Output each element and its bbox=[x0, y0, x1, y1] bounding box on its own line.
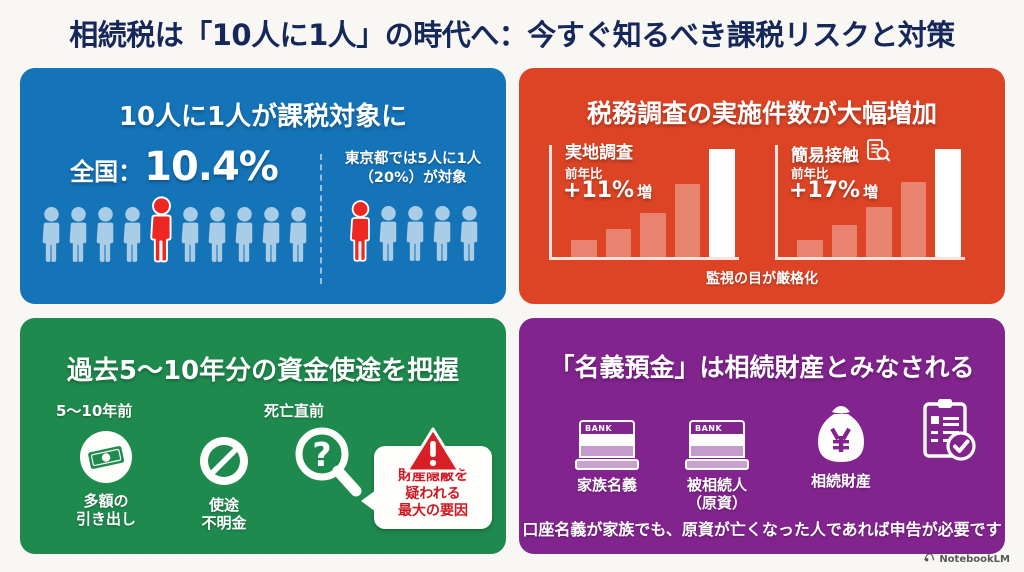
bank-badge-1: BANK bbox=[691, 422, 743, 434]
chart-bar bbox=[675, 184, 701, 257]
chart-bar bbox=[866, 207, 892, 257]
chart-bar bbox=[935, 149, 961, 257]
panel-fund-usage: 過去5〜10年分の資金使途を把握 5〜10年前 死亡直前 多額の 引き出し bbox=[20, 318, 506, 554]
bank-book-icon: BANK bbox=[547, 398, 667, 470]
person-icon-highlighted bbox=[347, 200, 374, 263]
chart-label-text-0: 実地調査 bbox=[565, 138, 633, 163]
panel-taxable-ratio: 10人に1人が課税対象に 全国： 10.4% 東京都では5人に1人 （20%）が… bbox=[20, 68, 506, 304]
chart-bar bbox=[709, 149, 735, 257]
tokyo-note-line2: （20%）が対象 bbox=[328, 169, 498, 188]
person-icon bbox=[232, 206, 257, 264]
notebooklm-logo-icon bbox=[924, 552, 935, 566]
person-icon bbox=[430, 205, 455, 263]
purple-panel-footer: 口座名義が家族でも、原資が亡くなった人であれば申告が必要です bbox=[519, 516, 1005, 540]
panel-nominee-deposit: 「名義預金」は相続財産とみなされる BANK 家族名義 bbox=[519, 318, 1005, 554]
purple-item-declaration bbox=[887, 392, 1005, 464]
chart-label-0: 実地調査 bbox=[565, 138, 633, 163]
bank-book-icon: BANK bbox=[657, 398, 777, 470]
green-caption-0-line2: 引き出し bbox=[46, 510, 166, 528]
purple-caption-0-line1: 家族名義 bbox=[547, 476, 667, 494]
person-icon bbox=[205, 206, 230, 264]
red-panel-heading: 税務調査の実施件数が大幅増加 bbox=[519, 94, 1005, 130]
chart-value-1: +17%増 bbox=[789, 178, 878, 203]
callout-line2: 疑われる bbox=[380, 486, 486, 504]
clipboard-check-icon bbox=[887, 392, 1005, 464]
purple-item-family-account: BANK 家族名義 bbox=[547, 398, 667, 494]
period-label-left: 5〜10年前 bbox=[56, 400, 132, 421]
panel-divider bbox=[320, 154, 322, 284]
purple-item-decedent-account: BANK 被相続人 （原資） bbox=[657, 398, 777, 513]
national-ratio-block: 全国： 10.4% bbox=[30, 144, 318, 190]
callout-line3: 最大の要因 bbox=[380, 503, 486, 521]
purple-caption-2-line1: 相続財産 bbox=[781, 472, 901, 490]
green-caption-1-line2: 不明金 bbox=[164, 514, 284, 532]
person-icon bbox=[286, 206, 311, 264]
green-item-unknown-use: 使途 不明金 bbox=[164, 430, 284, 532]
chart-bar bbox=[797, 240, 823, 257]
people-row-tokyo bbox=[336, 200, 492, 263]
page-title: 相続税は「10人に1人」の時代へ：今すぐ知るべき課税リスクと対策 bbox=[0, 8, 1024, 58]
person-icon bbox=[66, 206, 91, 264]
tokyo-note-block: 東京都では5人に1人 （20%）が対象 bbox=[328, 150, 498, 188]
person-icon bbox=[376, 205, 401, 263]
red-panel-footer: 監視の目が厳格化 bbox=[519, 268, 1005, 288]
person-icon-highlighted bbox=[147, 196, 176, 264]
green-caption-1-line1: 使途 bbox=[164, 496, 284, 514]
chart-bar bbox=[901, 182, 927, 257]
infographic-page: 相続税は「10人に1人」の時代へ：今すぐ知るべき課税リスクと対策 10人に1人が… bbox=[0, 0, 1024, 572]
banknote-icon bbox=[46, 426, 166, 488]
watermark-label: NotebookLM bbox=[939, 554, 1010, 565]
chart-simple-contact: 簡易接触 前年比 +17%増 bbox=[775, 140, 965, 260]
green-caption-0-line1: 多額の bbox=[46, 492, 166, 510]
chart-bar bbox=[640, 213, 666, 257]
tokyo-note-line1: 東京都では5人に1人 bbox=[328, 150, 498, 169]
chart-value-num-1: +17% bbox=[789, 178, 860, 203]
warning-callout: 財産隠蔽を 疑われる 最大の要因 bbox=[374, 446, 492, 529]
green-panel-heading: 過去5〜10年分の資金使途を把握 bbox=[20, 350, 506, 387]
purple-panel-heading: 「名義預金」は相続財産とみなされる bbox=[519, 348, 1005, 384]
money-bag-yen-icon bbox=[781, 394, 901, 466]
watermark: NotebookLM bbox=[924, 552, 1010, 566]
purple-item-estate: 相続財産 bbox=[781, 394, 901, 490]
blue-panel-heading: 10人に1人が課税対象に bbox=[20, 96, 506, 133]
chart-field-audit: 実地調査 前年比 +11%増 bbox=[549, 140, 739, 260]
chart-bar bbox=[606, 229, 632, 257]
national-value: 10.4% bbox=[144, 144, 278, 190]
chart-value-num-0: +11% bbox=[563, 178, 634, 203]
person-icon bbox=[259, 206, 284, 264]
document-search-icon bbox=[865, 138, 891, 169]
chart-bar bbox=[832, 225, 858, 257]
person-icon bbox=[93, 206, 118, 264]
chart-bar bbox=[571, 240, 597, 257]
person-icon bbox=[403, 205, 428, 263]
national-label: 全国： bbox=[70, 152, 142, 187]
chart-value-suffix-1: 増 bbox=[863, 183, 878, 201]
purple-caption-1-line1: 被相続人 bbox=[657, 476, 777, 494]
person-icon bbox=[39, 206, 64, 264]
bank-badge-0: BANK bbox=[581, 422, 633, 434]
prohibition-icon bbox=[164, 430, 284, 492]
people-row-national bbox=[32, 196, 318, 264]
person-icon bbox=[457, 205, 482, 263]
panel-tax-audit: 税務調査の実施件数が大幅増加 実地調査 前年比 +11%増 簡易接触 bbox=[519, 68, 1005, 304]
person-icon bbox=[178, 206, 203, 264]
chart-value-0: +11%増 bbox=[563, 178, 652, 203]
chart-value-suffix-0: 増 bbox=[637, 183, 652, 201]
period-label-right: 死亡直前 bbox=[264, 400, 324, 421]
svg-text:?: ? bbox=[312, 435, 331, 474]
person-icon bbox=[120, 206, 145, 264]
green-item-withdrawal: 多額の 引き出し bbox=[46, 426, 166, 528]
callout-tail bbox=[361, 490, 376, 512]
purple-caption-1-line2: （原資） bbox=[657, 494, 777, 512]
warning-triangle-icon bbox=[405, 426, 461, 478]
